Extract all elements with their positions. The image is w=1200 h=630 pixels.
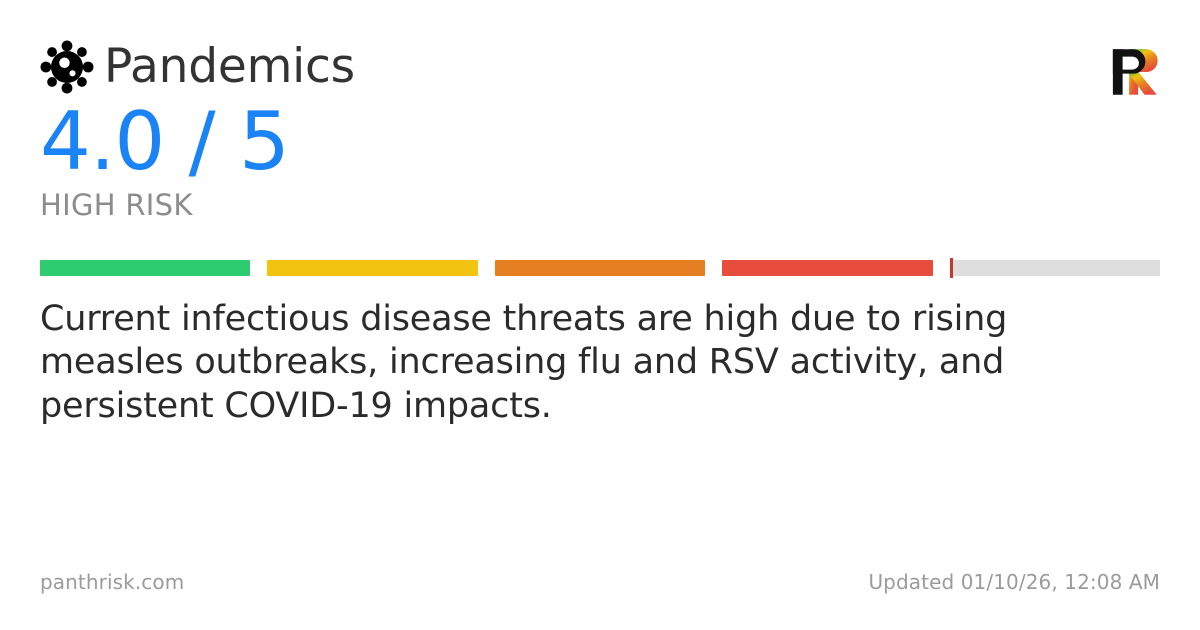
score-value: 4.0 / 5: [40, 102, 1160, 182]
page-title: Pandemics: [104, 42, 355, 91]
card-header: Pandemics: [40, 40, 1160, 98]
meter-segment-elevated: [495, 260, 705, 276]
meter-segment-guarded: [267, 260, 477, 276]
card-footer: panthrisk.com Updated 01/10/26, 12:08 AM: [40, 570, 1160, 594]
risk-level-label: HIGH RISK: [40, 190, 1160, 222]
risk-summary-card: Pandemics: [0, 0, 1200, 630]
meter-segment-severe: [950, 260, 1160, 276]
meter-segment-high: [722, 260, 932, 276]
site-name: panthrisk.com: [40, 570, 184, 594]
risk-description: Current infectious disease threats are h…: [40, 298, 1100, 428]
title-line: Pandemics: [40, 40, 355, 94]
panthrisk-logo: [1108, 46, 1160, 98]
updated-timestamp: Updated 01/10/26, 12:08 AM: [868, 570, 1160, 594]
risk-meter: [40, 260, 1160, 276]
meter-segment-low: [40, 260, 250, 276]
virus-icon: [40, 40, 94, 94]
